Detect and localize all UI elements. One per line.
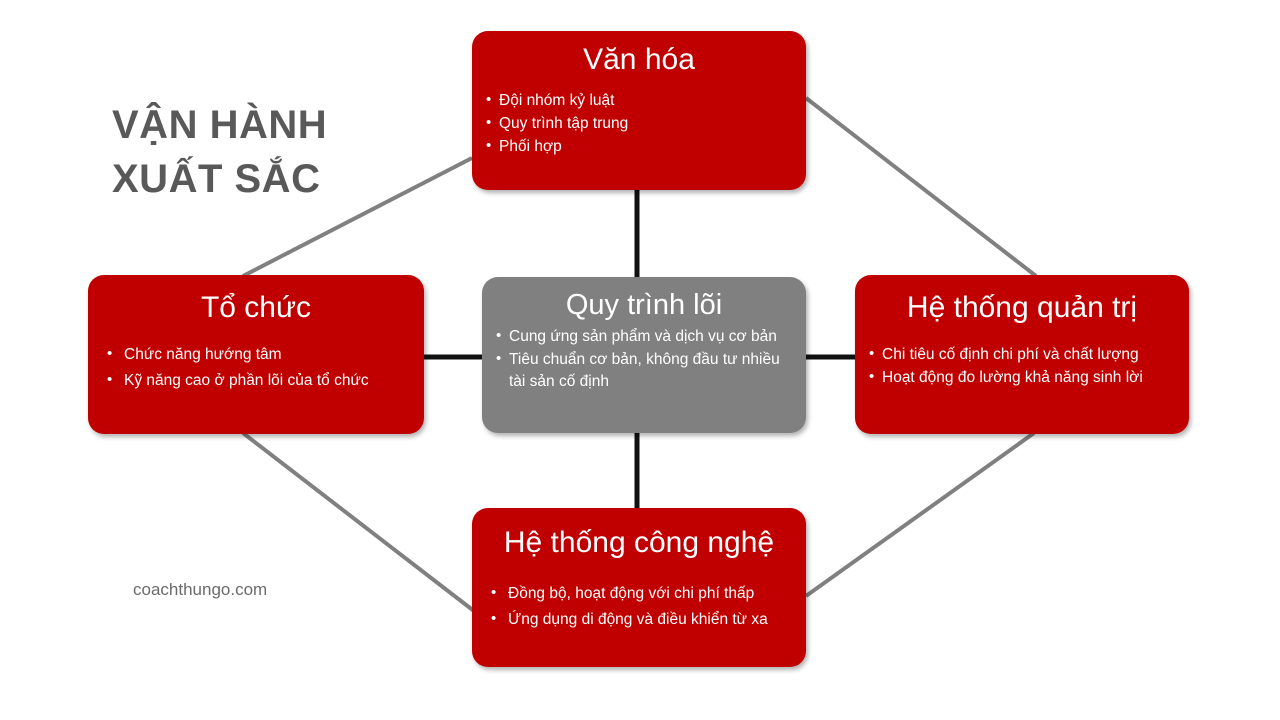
connector-left-bottom-diagonal [243, 433, 474, 611]
list-item: Chức năng hướng tâm [102, 344, 410, 366]
node-he-thong-quan-tri[interactable]: Hệ thống quản trị Chi tiêu cố định chi p… [855, 275, 1189, 434]
watermark-text: coachthungo.com [133, 580, 267, 600]
list-item: Tiêu chuẩn cơ bản, không đầu tư nhiều tà… [496, 349, 792, 393]
node-center-title: Quy trình lõi [496, 289, 792, 322]
connector-right-bottom-diagonal [806, 433, 1034, 596]
node-top-bullets: Đội nhóm kỷ luật Quy trình tập trung Phố… [486, 90, 792, 158]
node-top-title: Văn hóa [486, 43, 792, 78]
list-item: Ứng dụng di động và điều khiển từ xa [486, 609, 792, 631]
node-to-chuc[interactable]: Tổ chức Chức năng hướng tâm Kỹ năng cao … [88, 275, 424, 434]
list-item: Phối hợp [486, 136, 792, 158]
list-item: Quy trình tập trung [486, 113, 792, 135]
node-right-title: Hệ thống quản trị [869, 291, 1175, 326]
node-bottom-bullets: Đồng bộ, hoạt động với chi phí thấp Ứng … [486, 583, 792, 631]
list-item: Đội nhóm kỷ luật [486, 90, 792, 112]
node-bottom-title: Hệ thống công nghệ [486, 526, 792, 561]
list-item: Kỹ năng cao ở phần lõi của tổ chức [102, 370, 410, 392]
node-left-bullets: Chức năng hướng tâm Kỹ năng cao ở phần l… [102, 344, 410, 392]
node-quy-trinh-loi[interactable]: Quy trình lõi Cung ứng sản phẩm và dịch … [482, 277, 806, 433]
node-van-hoa[interactable]: Văn hóa Đội nhóm kỷ luật Quy trình tập t… [472, 31, 806, 190]
node-right-bullets: Chi tiêu cố định chi phí và chất lượng H… [869, 344, 1175, 389]
list-item: Hoạt động đo lường khả năng sinh lời [869, 367, 1175, 389]
node-he-thong-cong-nghe[interactable]: Hệ thống công nghệ Đồng bộ, hoạt động vớ… [472, 508, 806, 667]
node-left-title: Tổ chức [102, 291, 410, 326]
list-item: Chi tiêu cố định chi phí và chất lượng [869, 344, 1175, 366]
list-item: Cung ứng sản phẩm và dịch vụ cơ bản [496, 326, 792, 348]
node-center-bullets: Cung ứng sản phẩm và dịch vụ cơ bản Tiêu… [496, 326, 792, 393]
page-title: VẬN HÀNH XUẤT SẮC [112, 98, 452, 206]
diagram-canvas: VẬN HÀNH XUẤT SẮC Văn hóa Đội nhóm kỷ lu… [0, 0, 1280, 720]
list-item: Đồng bộ, hoạt động với chi phí thấp [486, 583, 792, 605]
connector-top-right-diagonal [806, 98, 1036, 276]
